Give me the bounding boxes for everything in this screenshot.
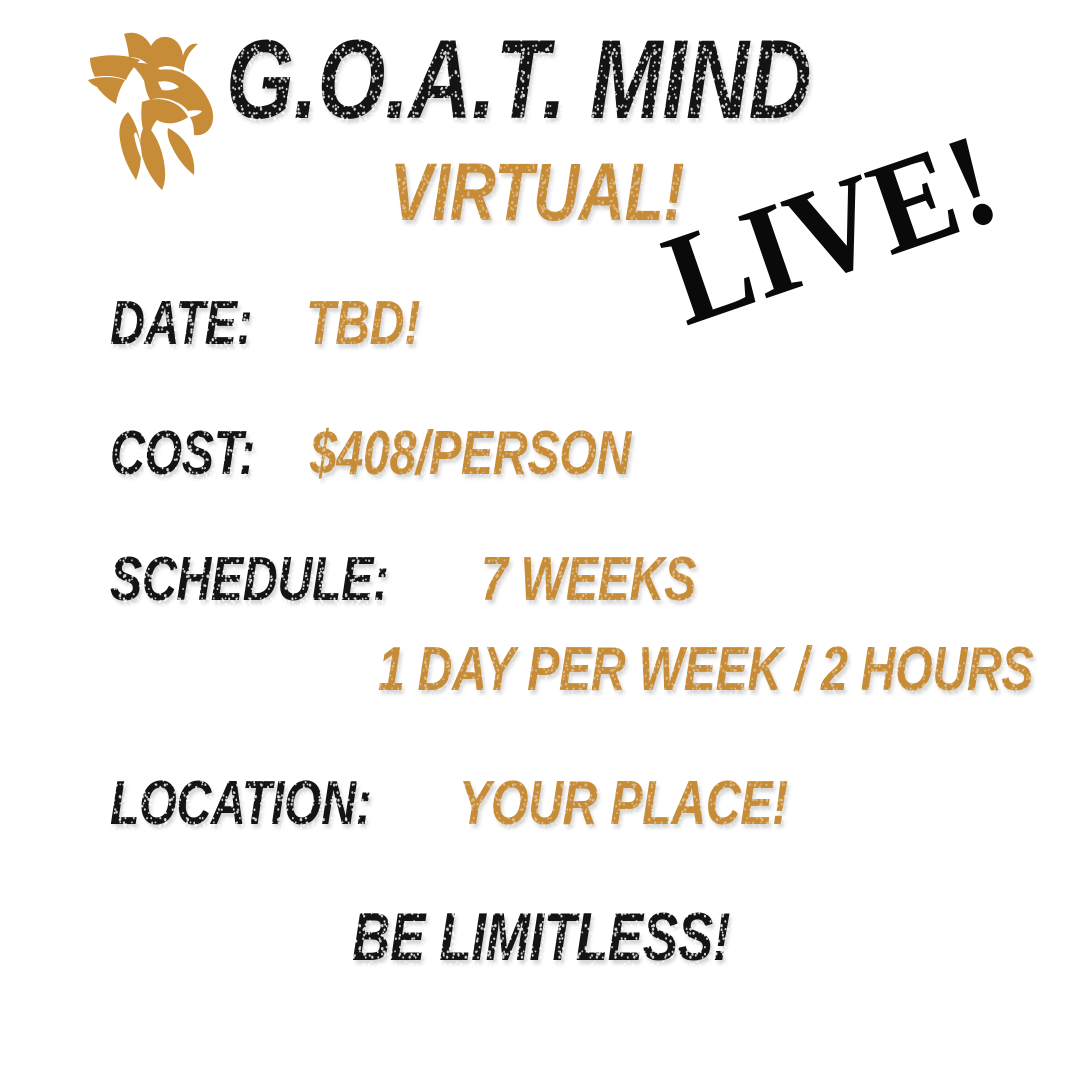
detail-row-date: DATE: TBD!: [110, 288, 452, 359]
detail-value-schedule: 7 WEEKS: [481, 544, 696, 615]
goat-lion-head-icon: [84, 28, 220, 190]
detail-row-schedule-secondary: 1 DAY PER WEEK / 2 HOURS: [378, 634, 1080, 705]
detail-value-location: YOUR PLACE!: [459, 768, 788, 839]
detail-label-cost: COST:: [110, 418, 255, 489]
detail-label-schedule: SCHEDULE:: [110, 544, 389, 615]
detail-value-cost: $408/PERSON: [310, 418, 631, 489]
tagline-text: BE LIMITLESS!: [352, 898, 730, 976]
detail-value-date: TBD!: [306, 288, 420, 359]
detail-row-schedule: SCHEDULE: 7 WEEKS: [110, 544, 757, 615]
detail-label-location: LOCATION:: [110, 768, 372, 839]
tagline: BE LIMITLESS!: [352, 898, 837, 976]
poster-header: G.O.A.T. MIND VIRTUAL! LIVE!: [0, 0, 1080, 260]
detail-row-cost: COST: $408/PERSON: [110, 418, 721, 489]
detail-label-date: DATE:: [110, 288, 252, 359]
detail-row-location: LOCATION: YOUR PLACE!: [110, 768, 881, 839]
brand-subtitle: VIRTUAL!: [390, 152, 684, 234]
brand-title: G.O.A.T. MIND: [226, 24, 811, 136]
promo-poster: G.O.A.T. MIND VIRTUAL! LIVE! DATE: TBD! …: [0, 0, 1080, 1080]
live-stamp-badge: LIVE!: [650, 112, 1012, 347]
detail-value-schedule-secondary: 1 DAY PER WEEK / 2 HOURS: [378, 634, 1033, 705]
